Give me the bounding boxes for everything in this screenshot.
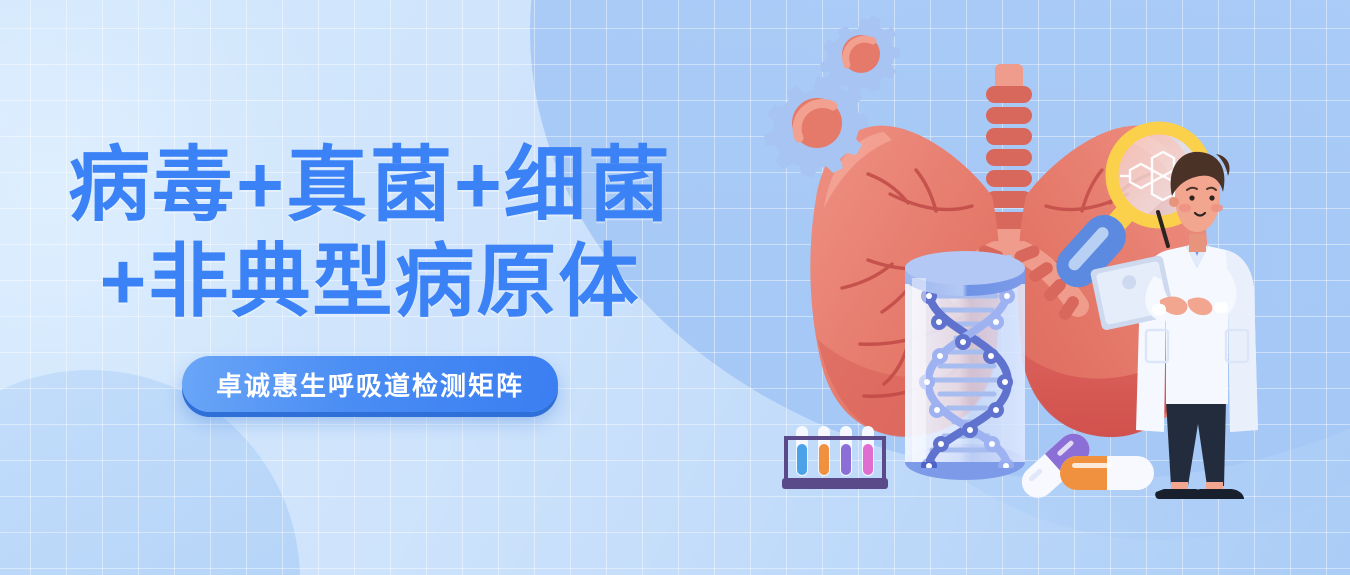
headline-line-1: 病毒+真菌+细菌	[0, 138, 740, 234]
doctor-pants	[1166, 400, 1226, 486]
doctor-ear	[1169, 197, 1179, 207]
hero-illustration	[760, 0, 1350, 575]
doctor-neck	[1189, 234, 1206, 252]
dna-jar-group	[905, 251, 1025, 480]
jar-glass-shine	[912, 278, 926, 462]
doctor-shoe-right	[1191, 489, 1244, 499]
promo-banner: 病毒+真菌+细菌 +非典型病原体 卓诚惠生呼吸道检测矩阵	[0, 0, 1350, 575]
coat-cuff-right	[1214, 302, 1228, 313]
test-tubes-group	[782, 426, 888, 489]
headline-block: 病毒+真菌+细菌 +非典型病原体 卓诚惠生呼吸道检测矩阵	[0, 138, 740, 412]
tube-glass	[796, 426, 874, 476]
coat-cuff-left	[1152, 304, 1166, 315]
subtitle-pill-wrapper: 卓诚惠生呼吸道检测矩阵	[0, 356, 740, 412]
tube-rack-base	[782, 478, 888, 489]
headline-line-2: +非典型病原体	[0, 234, 740, 330]
illustration-svg	[760, 0, 1350, 575]
tube-liquids	[797, 444, 873, 475]
capsules-group	[1015, 427, 1154, 504]
capsule-orange	[1060, 456, 1154, 490]
doctor-ankle-right	[1206, 482, 1223, 490]
subtitle-pill[interactable]: 卓诚惠生呼吸道检测矩阵	[182, 356, 558, 412]
doctor-ankle-left	[1171, 482, 1188, 490]
